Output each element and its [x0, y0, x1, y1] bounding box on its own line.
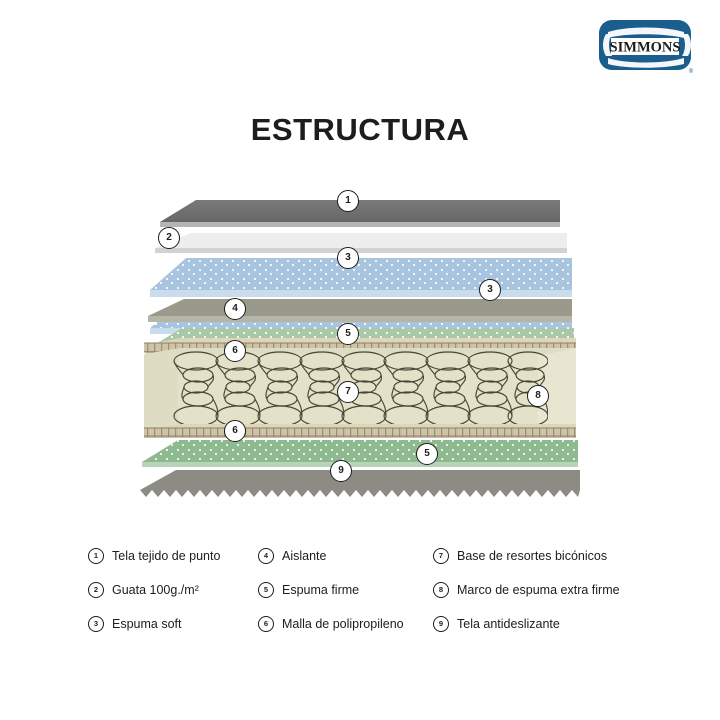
- legend-badge-4: 4: [258, 548, 274, 564]
- legend-label-7: Base de resortes bicónicos: [457, 549, 607, 563]
- simmons-logo: SIMMONS ®: [598, 18, 696, 76]
- diagram-badge-1[interactable]: 1: [337, 190, 359, 212]
- layer-guata: [155, 233, 567, 253]
- legend-label-6: Malla de polipropileno: [282, 617, 404, 631]
- diagram-badge-5-lower[interactable]: 5: [416, 443, 438, 465]
- legend-column-1: 1 Tela tejido de punto 2 Guata 100g./m² …: [88, 540, 268, 642]
- legend-badge-7: 7: [433, 548, 449, 564]
- legend-label-5: Espuma firme: [282, 583, 359, 597]
- diagram-badge-3-upper[interactable]: 3: [337, 247, 359, 269]
- legend-item-9: 9 Tela antideslizante: [433, 608, 668, 639]
- legend-item-7: 7 Base de resortes bicónicos: [433, 540, 668, 571]
- mattress-structure-diagram: 1 2 3 3 4 5 6 7 8 6 5 9: [0, 178, 720, 508]
- legend-item-3: 3 Espuma soft: [88, 608, 268, 639]
- legend-item-4: 4 Aislante: [258, 540, 443, 571]
- page-root: SIMMONS ® ESTRUCTURA: [0, 0, 720, 720]
- legend-item-5: 5 Espuma firme: [258, 574, 443, 605]
- layer-espuma-soft-upper: [150, 258, 572, 297]
- diagram-badge-6-lower[interactable]: 6: [224, 420, 246, 442]
- diagram-badge-4[interactable]: 4: [224, 298, 246, 320]
- legend-item-8: 8 Marco de espuma extra firme: [433, 574, 668, 605]
- legend-badge-8: 8: [433, 582, 449, 598]
- logo-wordmark: SIMMONS: [610, 39, 681, 55]
- diagram-badge-9[interactable]: 9: [330, 460, 352, 482]
- legend-badge-3: 3: [88, 616, 104, 632]
- legend-badge-9: 9: [433, 616, 449, 632]
- page-title: ESTRUCTURA: [0, 112, 720, 148]
- legend-item-1: 1 Tela tejido de punto: [88, 540, 268, 571]
- layer-tela-antideslizante: [140, 470, 580, 497]
- diagram-badge-2[interactable]: 2: [158, 227, 180, 249]
- layer-aislante-render: [148, 299, 572, 322]
- diagram-badge-8[interactable]: 8: [527, 385, 549, 407]
- layer-tela-tejido-de-punto: [160, 200, 560, 227]
- diagram-badge-3-lower[interactable]: 3: [479, 279, 501, 301]
- legend-badge-5: 5: [258, 582, 274, 598]
- registered-mark-icon: ®: [689, 68, 694, 75]
- diagram-badge-7[interactable]: 7: [337, 381, 359, 403]
- legend-badge-6: 6: [258, 616, 274, 632]
- diagram-badge-6-upper[interactable]: 6: [224, 340, 246, 362]
- legend-badge-2: 2: [88, 582, 104, 598]
- legend-label-2: Guata 100g./m²: [112, 583, 199, 597]
- legend-label-8: Marco de espuma extra firme: [457, 583, 620, 597]
- legend-column-3: 7 Base de resortes bicónicos 8 Marco de …: [433, 540, 668, 642]
- foam-frame-right: [548, 348, 576, 430]
- legend-label-4: Aislante: [282, 549, 326, 563]
- legend-item-2: 2 Guata 100g./m²: [88, 574, 268, 605]
- layer-espuma-firme-lower: [142, 440, 578, 467]
- diagram-badge-5-upper[interactable]: 5: [337, 323, 359, 345]
- layer-malla-polipropileno-lower: [144, 424, 576, 437]
- legend-badge-1: 1: [88, 548, 104, 564]
- legend-label-1: Tela tejido de punto: [112, 549, 220, 563]
- legend-label-3: Espuma soft: [112, 617, 181, 631]
- legend-label-9: Tela antideslizante: [457, 617, 560, 631]
- legend-item-6: 6 Malla de polipropileno: [258, 608, 443, 639]
- legend-column-2: 4 Aislante 5 Espuma firme 6 Malla de pol…: [258, 540, 443, 642]
